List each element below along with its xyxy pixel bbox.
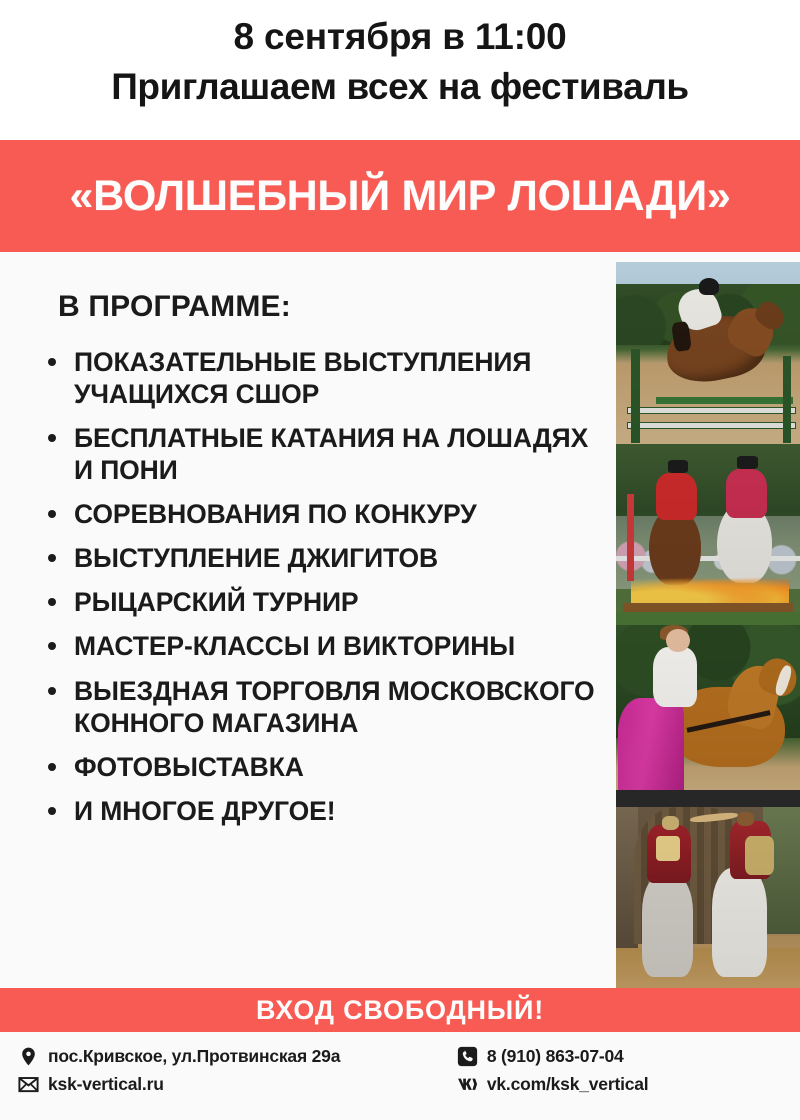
list-item: ПОКАЗАТЕЛЬНЫЕ ВЫСТУПЛЕНИЯ УЧАЩИХСЯ СШОР (46, 346, 606, 410)
program-section: В ПРОГРАММЕ: ПОКАЗАТЕЛЬНЫЕ ВЫСТУПЛЕНИЯ У… (0, 252, 616, 988)
red-pole (627, 494, 634, 581)
arena-fence (616, 556, 800, 561)
photo-knights-tournament (616, 807, 800, 989)
cossack-rider-right (726, 469, 766, 518)
magenta-skirt (618, 698, 684, 800)
jump-rail-green (656, 397, 792, 403)
bullet-icon (48, 642, 56, 650)
photo-cossack-riders-fire (616, 444, 800, 626)
envelope-icon (18, 1074, 39, 1095)
knight-cape (745, 836, 774, 876)
poster-footer: пос.Кривское, ул.Протвинская 29а ksk-ver… (0, 1032, 800, 1120)
map-pin-icon (18, 1046, 39, 1067)
free-entry-banner: ВХОД СВОБОДНЫЙ! (0, 988, 800, 1032)
photo-column (616, 262, 800, 988)
poster-header: 8 сентября в 11:00 Приглашаем всех на фе… (0, 0, 800, 140)
program-item-label: ФОТОВЫСТАВКА (74, 752, 304, 782)
footer-address-row: пос.Кривское, ул.Протвинская 29а (18, 1046, 457, 1067)
program-item-label: МАСТЕР-КЛАССЫ И ВИКТОРИНЫ (74, 631, 515, 661)
footer-website-row[interactable]: ksk-vertical.ru (18, 1074, 457, 1095)
jump-rail-lower (627, 422, 796, 429)
list-item: ВЫСТУПЛЕНИЕ ДЖИГИТОВ (46, 542, 606, 574)
knight-tabard-crest (656, 836, 680, 861)
program-item-label: РЫЦАРСКИЙ ТУРНИР (74, 587, 359, 617)
list-item: РЫЦАРСКИЙ ТУРНИР (46, 586, 606, 618)
bullet-icon (48, 598, 56, 606)
bullet-icon (48, 554, 56, 562)
cossack-rider-left (656, 473, 696, 520)
footer-vk-row[interactable]: vk.com/ksk_vertical (457, 1074, 786, 1095)
horse-grey (642, 875, 694, 977)
free-entry-text: ВХОД СВОБОДНЫЙ! (256, 995, 544, 1026)
list-item: БЕСПЛАТНЫЕ КАТАНИЯ НА ЛОШАДЯХ И ПОНИ (46, 422, 606, 486)
program-list: ПОКАЗАТЕЛЬНЫЕ ВЫСТУПЛЕНИЯ УЧАЩИХСЯ СШОР … (46, 346, 606, 827)
festival-poster: 8 сентября в 11:00 Приглашаем всех на фе… (0, 0, 800, 1120)
knight-helm-left (662, 816, 679, 831)
bullet-icon (48, 807, 56, 815)
bullet-icon (48, 434, 56, 442)
jump-post-left (631, 349, 640, 443)
list-item: МАСТЕР-КЛАССЫ И ВИКТОРИНЫ (46, 630, 606, 662)
program-item-label: БЕСПЛАТНЫЕ КАТАНИЯ НА ЛОШАДЯХ И ПОНИ (74, 423, 588, 485)
footer-phone-row[interactable]: 8 (910) 863-07-04 (457, 1046, 786, 1067)
horse-white (712, 868, 767, 977)
rider-helmet (699, 278, 719, 294)
program-item-label: ПОКАЗАТЕЛЬНЫЕ ВЫСТУПЛЕНИЯ УЧАЩИХСЯ СШОР (74, 347, 531, 409)
vk-icon (457, 1074, 478, 1095)
bullet-icon (48, 687, 56, 695)
footer-website-text: ksk-vertical.ru (48, 1074, 164, 1095)
fire-flames (631, 574, 789, 607)
bullet-icon (48, 763, 56, 771)
event-date-time: 8 сентября в 11:00 (0, 14, 800, 60)
white-blouse (653, 647, 697, 707)
list-item: ВЫЕЗДНАЯ ТОРГОВЛЯ МОСКОВСКОГО КОННОГО МА… (46, 675, 606, 739)
footer-phone-text: 8 (910) 863-07-04 (487, 1046, 624, 1067)
footer-left-column: пос.Кривское, ул.Протвинская 29а ksk-ver… (18, 1046, 457, 1095)
phone-icon (457, 1046, 478, 1067)
arena-rail (616, 790, 800, 806)
jump-rail-upper (627, 407, 796, 414)
program-item-label: СОРЕВНОВАНИЯ ПО КОНКУРУ (74, 499, 477, 529)
program-item-label: И МНОГОЕ ДРУГОЕ! (74, 796, 335, 826)
program-item-label: ВЫСТУПЛЕНИЕ ДЖИГИТОВ (74, 543, 438, 573)
list-item: ФОТОВЫСТАВКА (46, 751, 606, 783)
jump-post-right (783, 356, 790, 443)
photo-show-jumping (616, 262, 800, 444)
photo-lady-rider (616, 625, 800, 807)
papakha-hat-right (737, 456, 757, 469)
bullet-icon (48, 510, 56, 518)
program-item-label: ВЫЕЗДНАЯ ТОРГОВЛЯ МОСКОВСКОГО КОННОГО МА… (74, 676, 595, 738)
invitation-line: Приглашаем всех на фестиваль (0, 64, 800, 110)
footer-address-text: пос.Кривское, ул.Протвинская 29а (48, 1046, 340, 1067)
bullet-icon (48, 358, 56, 366)
festival-title-banner: «ВОЛШЕБНЫЙ МИР ЛОШАДИ» (0, 140, 800, 252)
footer-right-column: 8 (910) 863-07-04 vk.com/ksk_vertical (457, 1046, 786, 1095)
footer-vk-text: vk.com/ksk_vertical (487, 1074, 649, 1095)
knight-helm-right (737, 812, 754, 827)
list-item: СОРЕВНОВАНИЯ ПО КОНКУРУ (46, 498, 606, 530)
grass-strip (616, 612, 800, 625)
rider-head (666, 629, 690, 653)
program-heading: В ПРОГРАММЕ: (58, 290, 606, 324)
papakha-hat-left (668, 460, 688, 473)
festival-title: «ВОЛШЕБНЫЙ МИР ЛОШАДИ» (70, 172, 731, 221)
list-item: И МНОГОЕ ДРУГОЕ! (46, 795, 606, 827)
